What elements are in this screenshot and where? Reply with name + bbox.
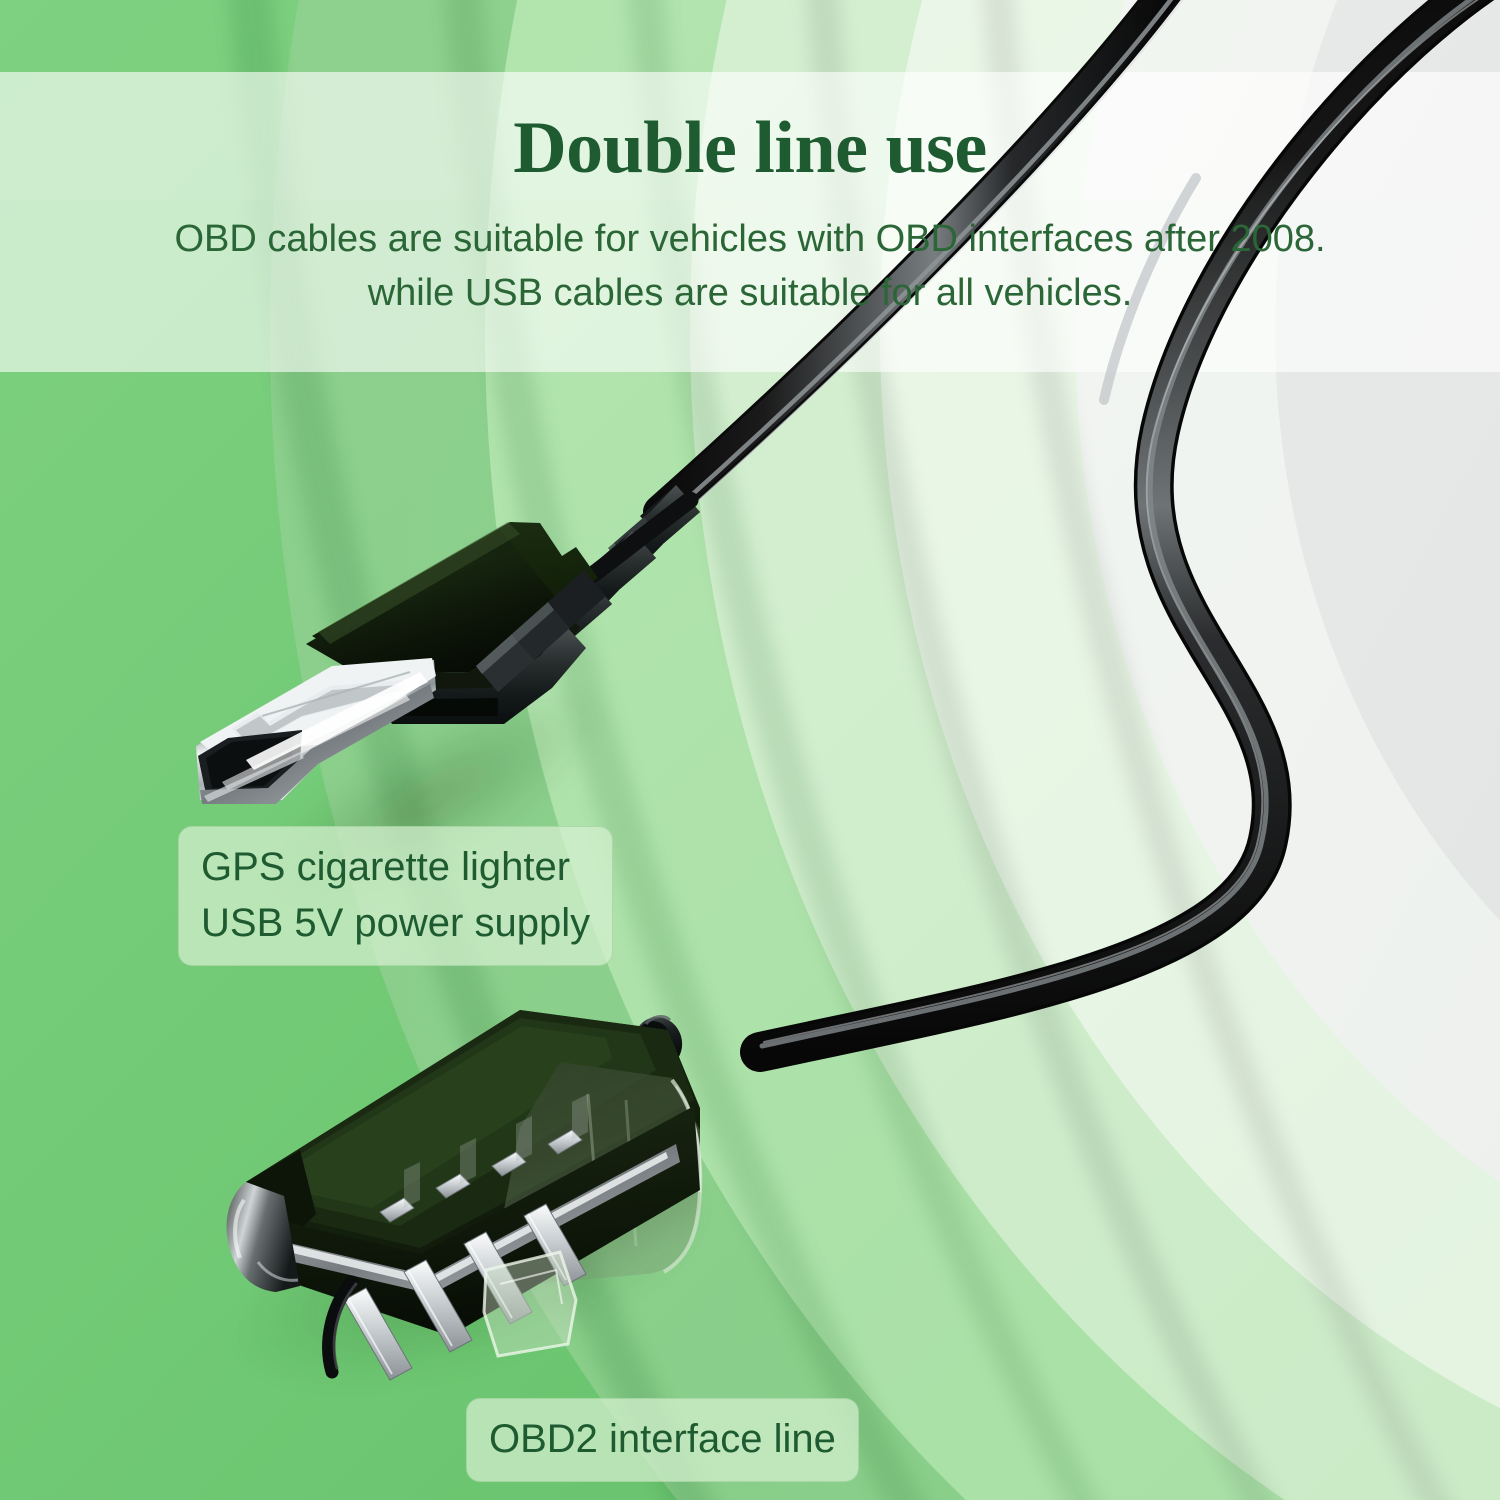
callout-obd2-interface-line: OBD2 interface line [466, 1398, 859, 1482]
callout-obd2-line-1: OBD2 interface line [489, 1411, 836, 1467]
callout-gps-usb-power: GPS cigarette lighter USB 5V power suppl… [178, 826, 613, 966]
mini-usb-cable [600, 0, 1196, 545]
callout-usb-line-2: USB 5V power supply [201, 895, 590, 951]
obd2-alignment-tab [484, 1252, 576, 1356]
product-photo-illustration [0, 0, 1500, 1500]
infographic-canvas: Double line use OBD cables are suitable … [0, 0, 1500, 1500]
obd2-cable [760, 0, 1500, 1052]
callout-usb-line-1: GPS cigarette lighter [201, 839, 590, 895]
